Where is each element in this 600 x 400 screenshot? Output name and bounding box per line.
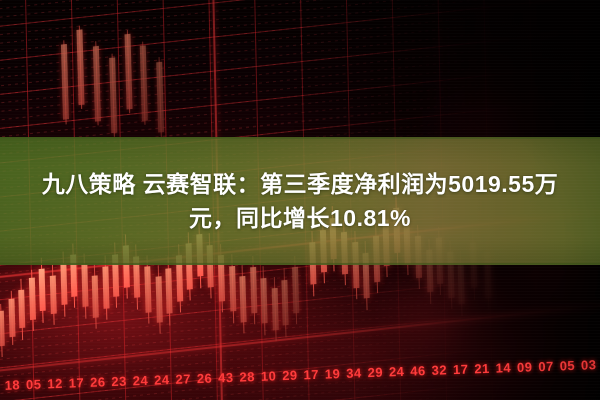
candlestick-body	[261, 278, 268, 324]
candlestick-body	[92, 275, 99, 317]
candlestick	[61, 40, 69, 124]
candlestick	[281, 268, 289, 337]
candlestick	[18, 279, 26, 341]
candlestick	[249, 256, 257, 325]
candlestick	[109, 53, 117, 137]
headline-line-1: 九八策略 云赛智联：第三季度净利润为5019.55万	[42, 169, 559, 199]
candlestick	[76, 25, 84, 109]
candlestick-body	[458, 262, 465, 304]
candlestick-body	[292, 267, 299, 313]
candlestick-body	[250, 267, 257, 313]
candlestick	[239, 264, 247, 333]
candlestick-body	[61, 44, 69, 120]
candlestick-body	[39, 269, 46, 311]
candlestick-body	[282, 279, 289, 325]
candlestick-body	[60, 263, 67, 305]
candlestick-body	[109, 57, 117, 133]
candlestick-body	[271, 288, 278, 330]
candlestick-body	[229, 265, 236, 311]
candlestick	[49, 264, 57, 326]
headline-text-block: 九八策略 云赛智联：第三季度净利润为5019.55万 元，同比增长10.81%	[0, 137, 600, 265]
candlestick-body	[8, 299, 15, 338]
candlestick	[144, 255, 152, 324]
candlestick-body	[29, 277, 36, 319]
candlestick-body	[144, 266, 151, 312]
candlestick	[292, 256, 300, 325]
candlestick-body	[19, 290, 26, 329]
candlestick	[39, 257, 47, 322]
candlestick-body	[140, 45, 148, 121]
headline-banner: 九八策略 云赛智联：第三季度净利润为5019.55万 元，同比增长10.81%	[0, 137, 600, 265]
headline-line-2: 元，同比增长10.81%	[189, 203, 411, 233]
candlestick-body	[102, 266, 109, 308]
candlestick-body	[165, 268, 172, 314]
candlestick	[140, 41, 148, 125]
candlestick-body	[239, 276, 246, 322]
candlestick	[156, 57, 164, 137]
candlestick-body	[93, 46, 101, 122]
candlestick-body	[155, 277, 162, 323]
candlestick	[155, 265, 163, 334]
candlestick-body	[81, 265, 88, 307]
candlestick	[271, 277, 279, 342]
candlestick-body	[50, 275, 57, 314]
candlestick	[165, 256, 173, 325]
candlestick	[92, 264, 100, 329]
candlestick	[0, 303, 5, 357]
candlestick-body	[0, 311, 5, 346]
candlestick-body	[156, 62, 164, 133]
candlestick	[93, 41, 101, 125]
candlestick-body	[77, 30, 85, 106]
candlestick	[8, 291, 15, 345]
candlestick	[29, 270, 37, 332]
candlestick	[124, 29, 132, 113]
candlestick-body	[124, 34, 132, 110]
candlestick	[260, 266, 268, 335]
news-thumbnail-image: 28293221302720 1805121726232424272643281…	[0, 0, 600, 400]
